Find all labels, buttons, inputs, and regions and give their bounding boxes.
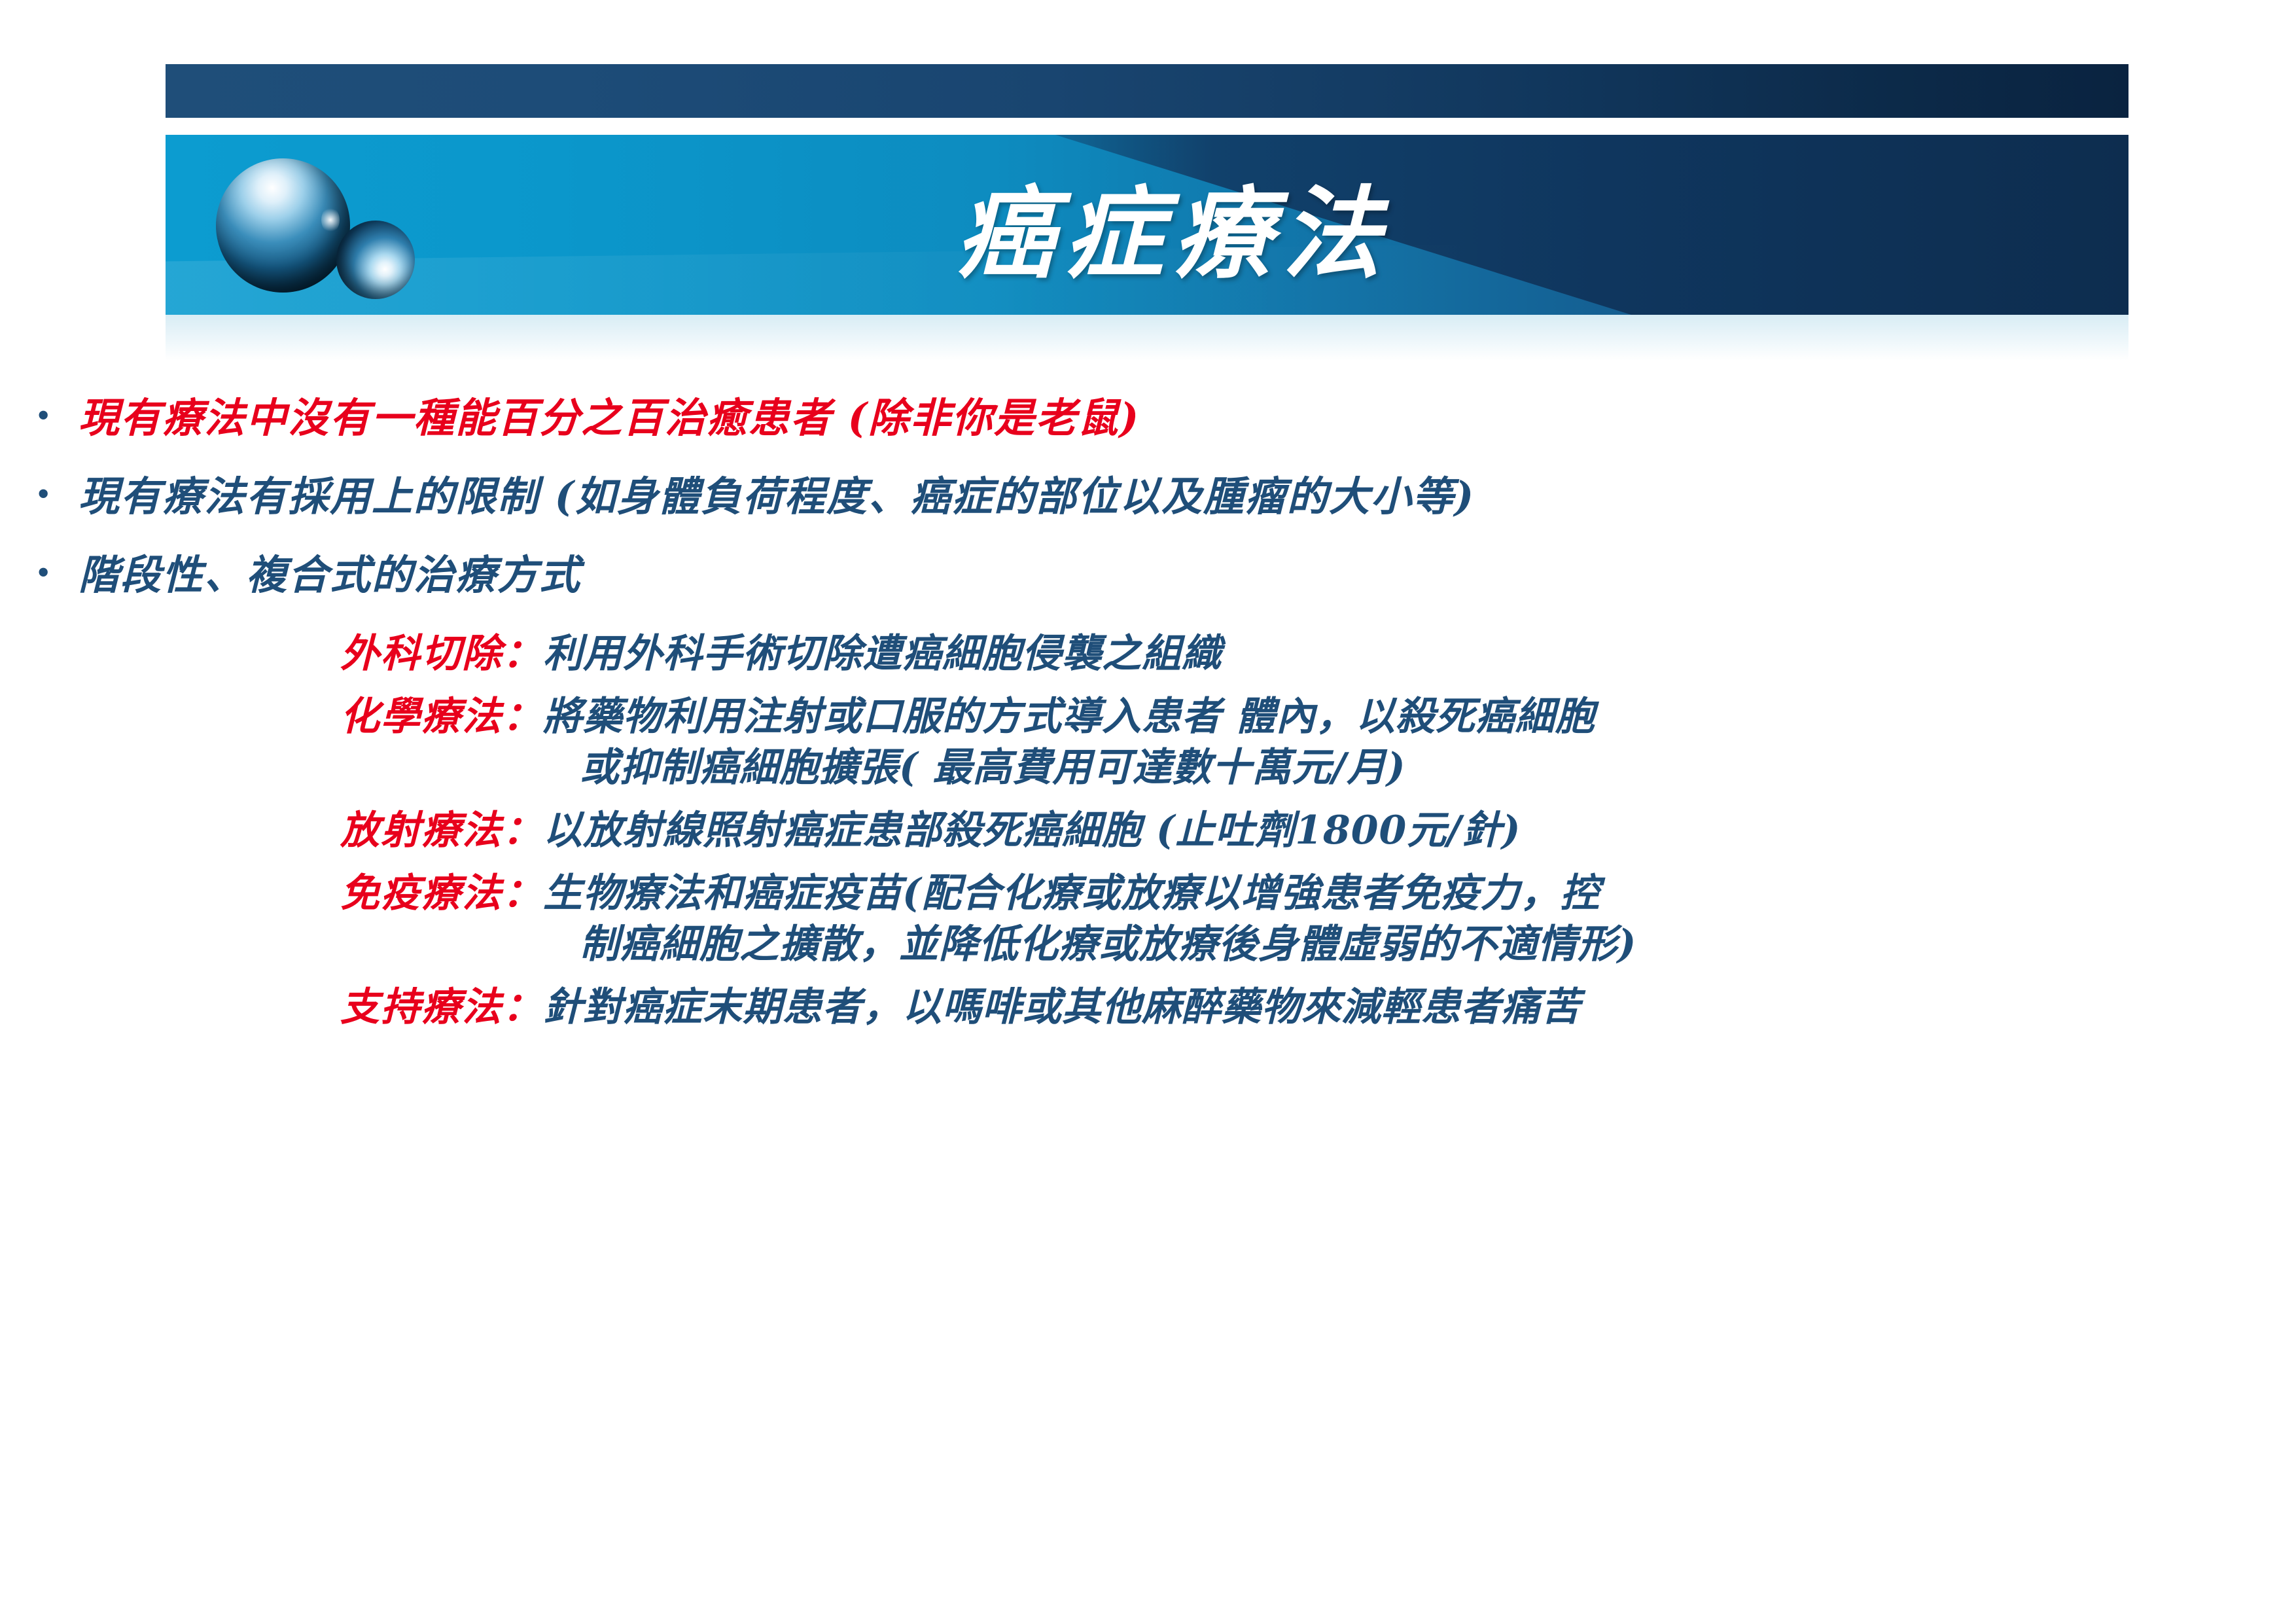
bullet-marker: •: [0, 393, 79, 440]
glossy-blue-sphere-icon: [216, 158, 350, 293]
treatment-label: 免疫療法：: [340, 868, 543, 919]
list-item: 放射療法： 以放射線照射癌症患部殺死癌細胞 (止吐劑1800元/針): [0, 805, 2296, 856]
treatment-description: 將藥物利用注射或口服的方式導入患者 體內，以殺死癌細胞 或抑制癌細胞擴張( 最高…: [543, 691, 1595, 793]
treatment-description: 以放射線照射癌症患部殺死癌細胞 (止吐劑1800元/針): [543, 805, 1521, 856]
treatment-line: 以放射線照射癌症患部殺死癌細胞 (止吐劑1800元/針): [543, 808, 1521, 853]
bullet-item: • 現有療法中沒有一種能百分之百治癒患者 (除非你是老鼠): [0, 393, 2296, 444]
header-top-bar: [166, 64, 2128, 118]
treatment-line: 制癌細胞之擴散，並降低化療或放療後身體虛弱的不適情形): [543, 919, 1636, 970]
list-item: 免疫療法： 生物療法和癌症疫苗(配合化療或放療以增強患者免疫力，控 制癌細胞之擴…: [0, 868, 2296, 970]
treatment-line: 針對癌症末期患者，以嗎啡或其他麻醉藥物來減輕患者痛苦: [543, 984, 1581, 1030]
treatment-label: 化學療法：: [340, 691, 543, 742]
bullet-text: 現有療法有採用上的限制 (如身體負荷程度、癌症的部位以及腫瘤的大小等): [79, 471, 1475, 522]
bullet-text: 階段性、複合式的治療方式: [79, 550, 581, 601]
treatment-label: 支持療法：: [340, 982, 543, 1033]
treatment-description: 針對癌症末期患者，以嗎啡或其他麻醉藥物來減輕患者痛苦: [543, 982, 1581, 1033]
treatment-label: 外科切除：: [340, 628, 543, 679]
bullet-marker: •: [0, 471, 79, 518]
bullet-item: • 現有療法有採用上的限制 (如身體負荷程度、癌症的部位以及腫瘤的大小等): [0, 471, 2296, 522]
glossy-blue-sphere-small-icon: [336, 221, 415, 299]
list-item: 化學療法： 將藥物利用注射或口服的方式導入患者 體內，以殺死癌細胞 或抑制癌細胞…: [0, 691, 2296, 793]
bullet-marker: •: [0, 550, 79, 597]
list-item: 支持療法： 針對癌症末期患者，以嗎啡或其他麻醉藥物來減輕患者痛苦: [0, 982, 2296, 1033]
slide-header: 癌症療法: [0, 0, 2296, 366]
treatment-line: 將藥物利用注射或口服的方式導入患者 體內，以殺死癌細胞: [543, 694, 1595, 740]
treatment-description: 生物療法和癌症疫苗(配合化療或放療以增強患者免疫力，控 制癌細胞之擴散，並降低化…: [543, 868, 1636, 970]
list-item: 外科切除： 利用外科手術切除遭癌細胞侵襲之組織: [0, 628, 2296, 679]
treatment-line: 生物療法和癌症疫苗(配合化療或放療以增強患者免疫力，控: [543, 870, 1600, 916]
treatment-line: 利用外科手術切除遭癌細胞侵襲之組織: [543, 631, 1222, 677]
banner-light-sweep: [166, 236, 2128, 315]
banner-reflection: [166, 315, 2128, 361]
slide-body: • 現有療法中沒有一種能百分之百治癒患者 (除非你是老鼠) • 現有療法有採用上…: [0, 393, 2296, 1044]
bullet-item: • 階段性、複合式的治療方式: [0, 550, 2296, 601]
treatment-description: 利用外科手術切除遭癌細胞侵襲之組織: [543, 628, 1222, 679]
logo-spheres: [216, 152, 432, 309]
treatment-label: 放射療法：: [340, 805, 543, 856]
treatment-list: 外科切除： 利用外科手術切除遭癌細胞侵襲之組織 化學療法： 將藥物利用注射或口服…: [0, 628, 2296, 1033]
bullet-text: 現有療法中沒有一種能百分之百治癒患者 (除非你是老鼠): [79, 393, 1140, 444]
title-banner: [166, 135, 2128, 315]
treatment-line: 或抑制癌細胞擴張( 最高費用可達數十萬元/月): [543, 742, 1595, 793]
